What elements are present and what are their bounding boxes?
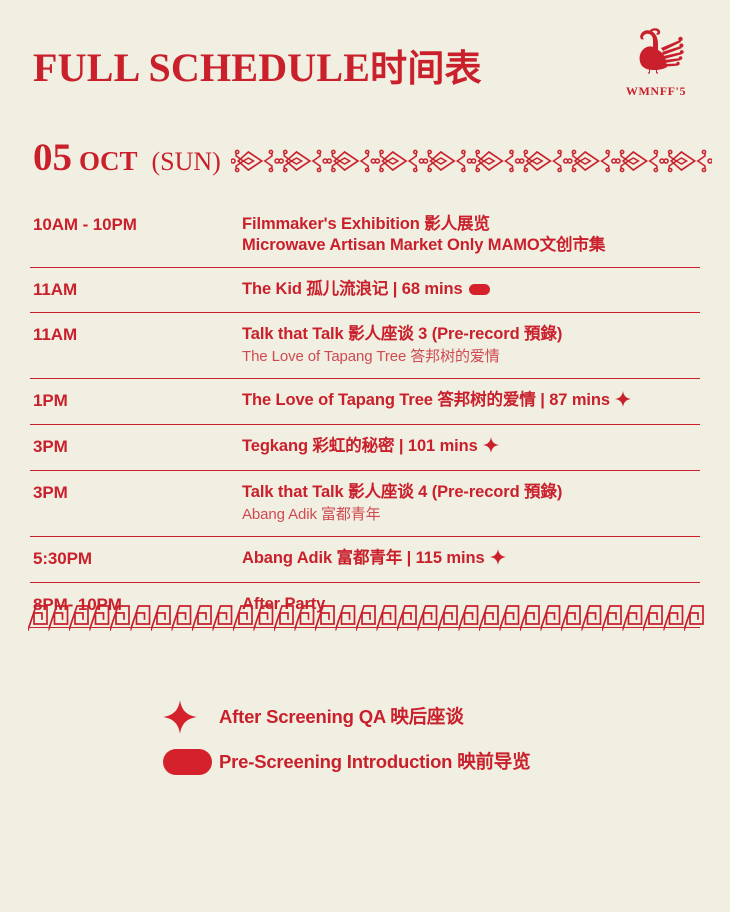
page-title-en: FULL SCHEDULE xyxy=(33,45,370,90)
row-title: Talk that Talk 影人座谈 3 (Pre-record 預錄) xyxy=(242,324,700,345)
row-subtitle: Abang Adik 富都青年 xyxy=(242,505,700,525)
row-time: 3PM xyxy=(30,436,242,458)
row-title-wrap: The Love of Tapang Tree 答邦树的爱情 | 87 mins xyxy=(242,390,700,413)
row-time: 3PM xyxy=(30,482,242,504)
table-row: 1PM The Love of Tapang Tree 答邦树的爱情 | 87 … xyxy=(30,379,700,425)
page-title: FULL SCHEDULE时间表 xyxy=(33,46,482,91)
legend-item-pre-screening-introduction: Pre-Screening Introduction 映前导览 xyxy=(163,739,633,784)
date-weekday: (SUN) xyxy=(152,149,221,175)
schedule-poster: FULL SCHEDULE时间表 xyxy=(0,0,730,912)
sparkle-icon xyxy=(163,700,219,734)
pill-icon xyxy=(469,284,490,295)
brand-lockup: WMNFF'5 xyxy=(610,26,702,99)
spiral-meander-ornament-icon xyxy=(28,598,704,638)
row-title: Tegkang 彩虹的秘密 | 101 mins xyxy=(242,437,478,455)
row-title-wrap: Tegkang 彩虹的秘密 | 101 mins xyxy=(242,436,700,459)
row-title-line2: Microwave Artisan Market Only MAMO文创市集 xyxy=(242,235,700,256)
sparkle-icon xyxy=(615,391,631,413)
row-title: The Kid 孤儿流浪记 | 68 mins xyxy=(242,280,463,298)
swan-icon xyxy=(610,26,702,83)
row-title: Talk that Talk 影人座谈 4 (Pre-record 預錄) xyxy=(242,482,700,503)
row-time: 1PM xyxy=(30,390,242,412)
legend-label: Pre-Screening Introduction 映前导览 xyxy=(219,750,530,774)
row-time: 5:30PM xyxy=(30,548,242,570)
sparkle-icon xyxy=(483,437,499,459)
table-row: 10AM - 10PM Filmmaker's Exhibition 影人展览 … xyxy=(30,203,700,268)
row-info: Talk that Talk 影人座谈 3 (Pre-record 預錄) Th… xyxy=(242,324,700,367)
date-day: 05 xyxy=(33,138,72,177)
row-info: Filmmaker's Exhibition 影人展览 Microwave Ar… xyxy=(242,214,700,256)
row-info: Abang Adik 富都青年 | 115 mins xyxy=(242,548,700,571)
brand-name: WMNFF'5 xyxy=(610,84,702,99)
date-month: OCT xyxy=(79,148,138,175)
row-title: Abang Adik 富都青年 | 115 mins xyxy=(242,549,485,567)
legend: After Screening QA 映后座谈 Pre-Screening In… xyxy=(163,694,633,784)
table-row: 3PM Talk that Talk 影人座谈 4 (Pre-record 預錄… xyxy=(30,471,700,537)
table-row: 11AM The Kid 孤儿流浪记 | 68 mins xyxy=(30,268,700,313)
row-time: 10AM - 10PM xyxy=(30,214,242,236)
row-info: Tegkang 彩虹的秘密 | 101 mins xyxy=(242,436,700,459)
row-title: Filmmaker's Exhibition 影人展览 xyxy=(242,214,700,235)
legend-label: After Screening QA 映后座谈 xyxy=(219,705,464,729)
table-row: 3PM Tegkang 彩虹的秘密 | 101 mins xyxy=(30,425,700,471)
page-title-cjk: 时间表 xyxy=(370,47,482,90)
pill-icon xyxy=(163,749,219,775)
poster-header: FULL SCHEDULE时间表 xyxy=(0,26,730,106)
legend-item-after-screening-qa: After Screening QA 映后座谈 xyxy=(163,694,633,739)
row-info: The Kid 孤儿流浪记 | 68 mins xyxy=(242,279,700,300)
row-subtitle: The Love of Tapang Tree 答邦树的爱情 xyxy=(242,347,700,367)
row-title: The Love of Tapang Tree 答邦树的爱情 | 87 mins xyxy=(242,391,610,409)
date-bar: 05 OCT (SUN) xyxy=(33,138,712,184)
table-row: 5:30PM Abang Adik 富都青年 | 115 mins xyxy=(30,537,700,583)
schedule-table: 10AM - 10PM Filmmaker's Exhibition 影人展览 … xyxy=(30,203,700,628)
row-title-wrap: The Kid 孤儿流浪记 | 68 mins xyxy=(242,279,700,300)
row-title-wrap: Abang Adik 富都青年 | 115 mins xyxy=(242,548,700,571)
diamond-cross-ornament-icon xyxy=(231,148,712,174)
row-time: 11AM xyxy=(30,324,242,346)
sparkle-icon xyxy=(490,549,506,571)
row-info: Talk that Talk 影人座谈 4 (Pre-record 預錄) Ab… xyxy=(242,482,700,525)
table-row: 11AM Talk that Talk 影人座谈 3 (Pre-record 預… xyxy=(30,313,700,379)
row-time: 11AM xyxy=(30,279,242,301)
row-info: The Love of Tapang Tree 答邦树的爱情 | 87 mins xyxy=(242,390,700,413)
